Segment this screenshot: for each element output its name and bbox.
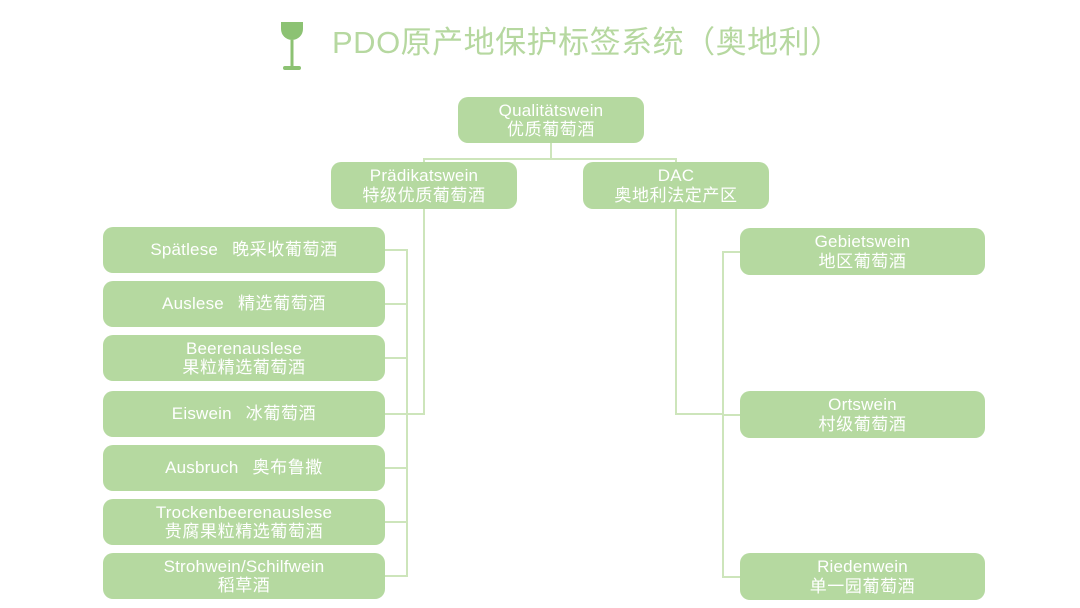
node-label-de: Gebietswein <box>815 232 911 251</box>
connector-right-stub-1 <box>722 414 742 416</box>
node-label-zh: 地区葡萄酒 <box>819 252 907 271</box>
connector-left-stub-5 <box>385 521 407 523</box>
node-strohwein-schilfwein[interactable]: Strohwein/Schilfwein 稻草酒 <box>103 553 385 599</box>
connector-right-stub-0 <box>722 251 742 253</box>
connector-left-stub-4 <box>385 467 407 469</box>
node-label-zh: 村级葡萄酒 <box>819 415 907 434</box>
node-label-zh: 稻草酒 <box>218 576 271 595</box>
node-label-de: Prädikatswein <box>370 166 478 185</box>
node-label-zh: 冰葡萄酒 <box>246 404 316 423</box>
node-praedikatswein[interactable]: Prädikatswein 特级优质葡萄酒 <box>331 162 517 209</box>
node-label-de: Qualitätswein <box>499 101 604 120</box>
node-trockenbeerenauslese[interactable]: Trockenbeerenauslese 贵腐果粒精选葡萄酒 <box>103 499 385 545</box>
connector-dac-join <box>675 413 723 415</box>
connector-praedikatswein-descender <box>423 209 425 414</box>
diagram-canvas: PDO原产地保护标签系统（奥地利） Qualitätswein 优质葡萄酒 Pr… <box>0 0 1080 608</box>
node-label-de: Eiswein <box>172 404 232 423</box>
connector-left-stub-3 <box>385 413 407 415</box>
node-label-zh: 奥地利法定产区 <box>614 186 737 205</box>
node-auslese[interactable]: Auslese 精选葡萄酒 <box>103 281 385 327</box>
node-dac[interactable]: DAC 奥地利法定产区 <box>583 162 769 209</box>
node-label-zh: 单一园葡萄酒 <box>810 577 916 596</box>
connector-left-stub-6 <box>385 575 407 577</box>
node-label-de: Auslese <box>162 294 224 313</box>
node-label-zh: 精选葡萄酒 <box>238 294 326 313</box>
node-riedenwein[interactable]: Riedenwein 单一园葡萄酒 <box>740 553 985 600</box>
connector-root-split <box>424 158 677 160</box>
connector-root-stem <box>550 143 552 159</box>
node-gebietswein[interactable]: Gebietswein 地区葡萄酒 <box>740 228 985 275</box>
node-label-de: Ausbruch <box>165 458 238 477</box>
node-label-zh: 优质葡萄酒 <box>507 120 595 139</box>
node-label-de: Riedenwein <box>817 557 908 576</box>
connector-right-stub-2 <box>722 576 742 578</box>
node-ausbruch[interactable]: Ausbruch 奥布鲁撒 <box>103 445 385 491</box>
connector-left-stub-1 <box>385 303 407 305</box>
node-label-de: Beerenauslese <box>186 339 302 358</box>
node-label-de: Ortswein <box>828 395 897 414</box>
node-label-de: Strohwein/Schilfwein <box>164 557 325 576</box>
connector-praedikatswein-join <box>407 413 425 415</box>
node-spaetlese[interactable]: Spätlese 晚采收葡萄酒 <box>103 227 385 273</box>
node-label-zh: 晚采收葡萄酒 <box>232 240 338 259</box>
node-label-zh: 果粒精选葡萄酒 <box>182 358 305 377</box>
connector-dac-descender <box>675 209 677 414</box>
node-qualitaetswein[interactable]: Qualitätswein 优质葡萄酒 <box>458 97 644 143</box>
page-title: PDO原产地保护标签系统（奥地利） <box>332 20 842 66</box>
connector-left-stub-0 <box>385 249 407 251</box>
node-label-zh: 贵腐果粒精选葡萄酒 <box>165 522 323 541</box>
node-label-zh: 特级优质葡萄酒 <box>362 186 485 205</box>
node-eiswein[interactable]: Eiswein 冰葡萄酒 <box>103 391 385 437</box>
node-label-zh: 奥布鲁撒 <box>253 458 323 477</box>
page-header: PDO原产地保护标签系统（奥地利） <box>0 0 1080 90</box>
node-label-de: Spätlese <box>150 240 218 259</box>
node-label-de: DAC <box>658 166 695 185</box>
node-ortswein[interactable]: Ortswein 村级葡萄酒 <box>740 391 985 438</box>
connector-left-stub-2 <box>385 357 407 359</box>
wine-glass-icon <box>272 14 312 76</box>
node-label-de: Trockenbeerenauslese <box>156 503 332 522</box>
node-beerenauslese[interactable]: Beerenauslese 果粒精选葡萄酒 <box>103 335 385 381</box>
